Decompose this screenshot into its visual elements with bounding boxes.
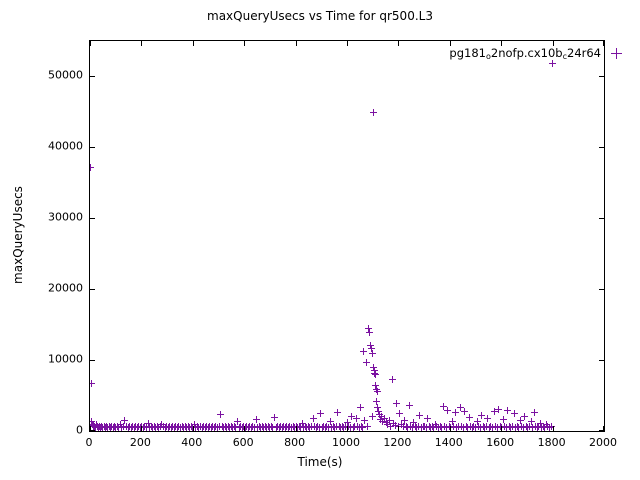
data-point xyxy=(470,423,477,430)
data-point xyxy=(463,423,470,430)
data-point xyxy=(107,424,114,431)
data-point xyxy=(507,424,514,431)
data-point xyxy=(503,424,510,431)
data-point xyxy=(128,424,135,431)
data-point xyxy=(197,423,204,430)
y-axis-tick-right xyxy=(599,289,604,290)
data-point xyxy=(117,421,124,428)
y-axis-tick-label: 0 xyxy=(37,424,83,437)
data-point xyxy=(125,424,132,431)
data-point xyxy=(297,424,304,431)
data-point xyxy=(314,423,321,430)
data-point xyxy=(320,423,327,430)
data-point xyxy=(523,423,530,430)
data-point xyxy=(415,423,422,430)
data-point xyxy=(137,424,144,431)
data-point xyxy=(506,423,513,430)
data-point xyxy=(248,424,255,431)
data-point xyxy=(524,424,531,431)
data-point xyxy=(220,424,227,431)
data-point xyxy=(232,424,239,431)
data-point xyxy=(467,423,474,430)
data-point xyxy=(515,424,522,431)
data-point xyxy=(406,402,413,409)
data-point xyxy=(383,419,390,426)
data-point xyxy=(212,423,219,430)
plot-area xyxy=(89,40,605,432)
data-point xyxy=(280,423,287,430)
data-point xyxy=(111,423,118,430)
data-point xyxy=(360,348,367,355)
data-point xyxy=(251,424,258,431)
data-point xyxy=(386,417,393,424)
data-point xyxy=(396,410,403,417)
data-point xyxy=(535,423,542,430)
data-point xyxy=(484,415,491,422)
data-point xyxy=(121,417,128,424)
data-point xyxy=(253,416,260,423)
data-point xyxy=(129,423,136,430)
data-point xyxy=(118,424,125,431)
data-point xyxy=(518,423,525,430)
data-point xyxy=(350,424,357,431)
data-point xyxy=(151,423,158,430)
data-point xyxy=(376,411,383,418)
data-point xyxy=(455,423,462,430)
data-point xyxy=(494,424,501,431)
data-point xyxy=(299,420,306,427)
data-point xyxy=(421,423,428,430)
x-axis-tick xyxy=(553,426,554,431)
data-point xyxy=(353,415,360,422)
data-point xyxy=(452,409,459,416)
x-axis-tick-label: 1200 xyxy=(383,436,411,449)
data-point xyxy=(104,424,111,431)
data-point xyxy=(371,367,378,374)
x-axis-tick xyxy=(501,426,502,431)
data-point xyxy=(162,424,169,431)
data-point xyxy=(441,423,448,430)
data-point xyxy=(271,414,278,421)
data-point xyxy=(223,424,230,431)
x-axis-tick-label: 200 xyxy=(130,436,151,449)
data-point xyxy=(279,424,286,431)
data-point xyxy=(529,424,536,431)
y-axis-tick-label: 20000 xyxy=(37,282,83,295)
y-axis-tick-right xyxy=(599,360,604,361)
data-point xyxy=(200,423,207,430)
y-axis-tick xyxy=(90,289,95,290)
data-point xyxy=(528,418,535,425)
data-point xyxy=(389,376,396,383)
x-axis-tick xyxy=(244,426,245,431)
data-point xyxy=(266,424,273,431)
data-point xyxy=(401,417,408,424)
data-point xyxy=(400,423,407,430)
data-point xyxy=(157,423,164,430)
x-axis-tick xyxy=(296,426,297,431)
data-point xyxy=(169,423,176,430)
data-point xyxy=(249,423,256,430)
y-axis-label: maxQueryUsecs xyxy=(11,165,25,305)
x-axis-tick-top xyxy=(244,41,245,46)
data-point xyxy=(367,342,374,349)
x-axis-tick-label: 400 xyxy=(181,436,202,449)
data-point xyxy=(97,424,104,431)
y-axis-tick-label: 10000 xyxy=(37,353,83,366)
y-axis-tick xyxy=(90,360,95,361)
data-point xyxy=(303,424,310,431)
data-point xyxy=(90,422,97,429)
data-point xyxy=(480,423,487,430)
data-point xyxy=(481,424,488,431)
data-point xyxy=(145,420,152,427)
data-point xyxy=(89,164,94,171)
data-point xyxy=(94,423,101,430)
data-point xyxy=(316,424,323,431)
data-point xyxy=(437,423,444,430)
data-point xyxy=(228,423,235,430)
data-point xyxy=(450,423,457,430)
data-point xyxy=(393,400,400,407)
data-point xyxy=(433,423,440,430)
data-point xyxy=(163,423,170,430)
data-point xyxy=(374,388,381,395)
data-point xyxy=(283,423,290,430)
data-point xyxy=(236,424,243,431)
x-axis-tick-label: 800 xyxy=(284,436,305,449)
data-point xyxy=(308,423,315,430)
data-point xyxy=(245,424,252,431)
data-point xyxy=(306,424,313,431)
data-point xyxy=(195,424,202,431)
data-point xyxy=(120,423,127,430)
data-point xyxy=(461,408,468,415)
data-point xyxy=(403,423,410,430)
data-point xyxy=(269,424,276,431)
data-point xyxy=(132,423,139,430)
data-point xyxy=(114,423,121,430)
data-point xyxy=(152,424,159,431)
data-point xyxy=(330,423,337,430)
data-point xyxy=(486,424,493,431)
data-point xyxy=(158,421,165,428)
data-point xyxy=(497,423,504,430)
data-point xyxy=(526,423,533,430)
data-point xyxy=(254,424,261,431)
data-point xyxy=(478,412,485,419)
data-point xyxy=(541,424,548,431)
data-point xyxy=(520,424,527,431)
data-point xyxy=(268,423,275,430)
data-point xyxy=(487,423,494,430)
y-axis-tick-label: 50000 xyxy=(37,69,83,82)
data-point xyxy=(296,423,303,430)
x-axis-tick-label: 1800 xyxy=(538,436,566,449)
chart-title: maxQueryUsecs vs Time for qr500.L3 xyxy=(0,9,640,23)
data-point xyxy=(521,413,528,420)
data-point xyxy=(205,424,212,431)
legend-entry-label: pg181o2nofp.cx10bc24r64 xyxy=(449,46,601,61)
data-point xyxy=(219,423,226,430)
data-point xyxy=(372,371,379,378)
data-point xyxy=(368,345,375,352)
data-point xyxy=(359,424,366,431)
data-point xyxy=(540,423,547,430)
x-axis-tick-label: 600 xyxy=(233,436,254,449)
data-point xyxy=(185,423,192,430)
data-point xyxy=(416,412,423,419)
data-point xyxy=(256,423,263,430)
data-point xyxy=(407,423,414,430)
data-point xyxy=(160,423,167,430)
data-point xyxy=(443,424,450,431)
data-point xyxy=(263,424,270,431)
x-axis-tick-top xyxy=(398,41,399,46)
data-point xyxy=(457,404,464,411)
data-point xyxy=(387,423,394,430)
data-point xyxy=(427,424,434,431)
data-point xyxy=(323,423,330,430)
y-axis-tick-right xyxy=(599,218,604,219)
x-axis-tick xyxy=(141,426,142,431)
data-point xyxy=(286,423,293,430)
data-point xyxy=(381,415,388,422)
data-point xyxy=(179,423,186,430)
data-point xyxy=(327,418,334,425)
data-point xyxy=(99,424,106,431)
data-point xyxy=(302,423,309,430)
data-point xyxy=(331,424,338,431)
data-point xyxy=(379,418,386,425)
data-point xyxy=(458,423,465,430)
data-point xyxy=(534,424,541,431)
data-point xyxy=(438,424,445,431)
data-point xyxy=(371,370,378,377)
data-point xyxy=(453,424,460,431)
data-point xyxy=(365,325,372,332)
y-axis-tick xyxy=(90,218,95,219)
data-point xyxy=(305,423,312,430)
data-point xyxy=(194,423,201,430)
data-point xyxy=(364,423,371,430)
data-point xyxy=(154,423,161,430)
data-point xyxy=(180,424,187,431)
data-point xyxy=(202,424,209,431)
data-point xyxy=(432,421,439,428)
data-point xyxy=(208,424,215,431)
data-point xyxy=(155,424,162,431)
data-point xyxy=(319,424,326,431)
data-point xyxy=(328,424,335,431)
y-axis-tick-right xyxy=(599,147,604,148)
data-point xyxy=(424,415,431,422)
data-point xyxy=(93,421,100,428)
data-point xyxy=(370,109,377,116)
data-point xyxy=(311,423,318,430)
data-point xyxy=(334,409,341,416)
data-point xyxy=(354,423,361,430)
data-point xyxy=(511,410,518,417)
data-point xyxy=(474,418,481,425)
data-point xyxy=(134,424,141,431)
data-point xyxy=(216,423,223,430)
data-point xyxy=(378,413,385,420)
data-point xyxy=(492,423,499,430)
data-point xyxy=(537,420,544,427)
data-point xyxy=(95,424,102,431)
data-point xyxy=(102,424,109,431)
data-point xyxy=(489,424,496,431)
data-point xyxy=(517,417,524,424)
data-point xyxy=(89,380,95,387)
data-point xyxy=(300,424,307,431)
data-point xyxy=(231,423,238,430)
data-point xyxy=(532,423,539,430)
data-point xyxy=(182,423,189,430)
data-point xyxy=(423,424,430,431)
data-point xyxy=(148,423,155,430)
data-point xyxy=(435,424,442,431)
data-point xyxy=(369,413,376,420)
data-point xyxy=(211,424,218,431)
x-axis-label: Time(s) xyxy=(0,455,640,469)
data-point xyxy=(543,421,550,428)
data-point xyxy=(274,423,281,430)
data-point xyxy=(273,424,280,431)
data-point xyxy=(440,403,447,410)
data-point xyxy=(447,424,454,431)
data-point xyxy=(495,406,502,413)
data-point xyxy=(544,423,551,430)
y-axis-tick-right xyxy=(599,430,604,431)
data-point xyxy=(377,416,384,423)
data-point xyxy=(242,424,249,431)
data-point xyxy=(199,424,206,431)
data-point xyxy=(260,424,267,431)
data-point xyxy=(390,420,397,427)
x-axis-tick-label: 0 xyxy=(86,436,93,449)
data-point xyxy=(337,424,344,431)
data-point xyxy=(222,423,229,430)
data-point xyxy=(123,423,130,430)
data-point xyxy=(472,424,479,431)
data-point xyxy=(410,419,417,426)
x-axis-tick-label: 1400 xyxy=(435,436,463,449)
data-point xyxy=(477,424,484,431)
data-point xyxy=(426,423,433,430)
data-point xyxy=(501,423,508,430)
x-axis-tick-top xyxy=(141,41,142,46)
data-point xyxy=(203,423,210,430)
data-point xyxy=(336,423,343,430)
data-point xyxy=(166,423,173,430)
data-point xyxy=(115,424,122,431)
data-point xyxy=(372,382,379,389)
x-axis-tick-label: 1600 xyxy=(486,436,514,449)
x-axis-tick-top xyxy=(90,41,91,46)
data-point xyxy=(464,424,471,431)
data-point xyxy=(429,423,436,430)
data-point xyxy=(175,423,182,430)
data-point xyxy=(126,423,133,430)
data-point xyxy=(361,417,368,424)
data-point xyxy=(226,424,233,431)
data-point xyxy=(143,424,150,431)
y-axis-tick-label: 30000 xyxy=(37,211,83,224)
data-point xyxy=(363,359,370,366)
data-point xyxy=(234,418,241,425)
x-axis-tick-top xyxy=(193,41,194,46)
data-point xyxy=(291,424,298,431)
data-point xyxy=(168,424,175,431)
data-point xyxy=(246,423,253,430)
data-point xyxy=(288,424,295,431)
data-point xyxy=(483,423,490,430)
data-point xyxy=(514,423,521,430)
data-point xyxy=(500,416,507,423)
data-point xyxy=(370,364,377,371)
data-point xyxy=(214,424,221,431)
data-point xyxy=(229,424,236,431)
data-point xyxy=(282,424,289,431)
data-point xyxy=(183,424,190,431)
legend-plus-marker-icon xyxy=(611,48,622,59)
data-point xyxy=(418,424,425,431)
data-point xyxy=(375,408,382,415)
data-point xyxy=(460,424,467,431)
data-point xyxy=(475,423,482,430)
data-point xyxy=(351,423,358,430)
data-point xyxy=(285,424,292,431)
data-point xyxy=(225,423,232,430)
data-point xyxy=(310,415,317,422)
data-point xyxy=(374,404,381,411)
data-point xyxy=(96,423,103,430)
data-point xyxy=(538,424,545,431)
data-point xyxy=(98,423,105,430)
data-point xyxy=(276,424,283,431)
data-point xyxy=(384,421,391,428)
data-point xyxy=(420,423,427,430)
y-axis-tick xyxy=(90,147,95,148)
data-point xyxy=(373,386,380,393)
data-point xyxy=(444,407,451,414)
data-point xyxy=(491,408,498,415)
y-axis-tick-right xyxy=(599,76,604,77)
data-point xyxy=(356,424,363,431)
x-axis-tick xyxy=(193,426,194,431)
data-point xyxy=(504,407,511,414)
data-point xyxy=(409,424,416,431)
data-point xyxy=(531,409,538,416)
x-axis-tick-top xyxy=(347,41,348,46)
x-axis-tick-label: 2000 xyxy=(589,436,617,449)
y-axis-tick xyxy=(90,430,95,431)
data-point xyxy=(413,424,420,431)
data-point xyxy=(369,350,376,357)
data-point xyxy=(339,423,346,430)
data-point xyxy=(177,424,184,431)
data-point xyxy=(412,423,419,430)
data-point xyxy=(333,423,340,430)
data-point xyxy=(348,413,355,420)
data-point xyxy=(509,423,516,430)
data-point xyxy=(209,423,216,430)
data-point xyxy=(101,423,108,430)
data-point xyxy=(512,424,519,431)
data-point xyxy=(165,424,172,431)
